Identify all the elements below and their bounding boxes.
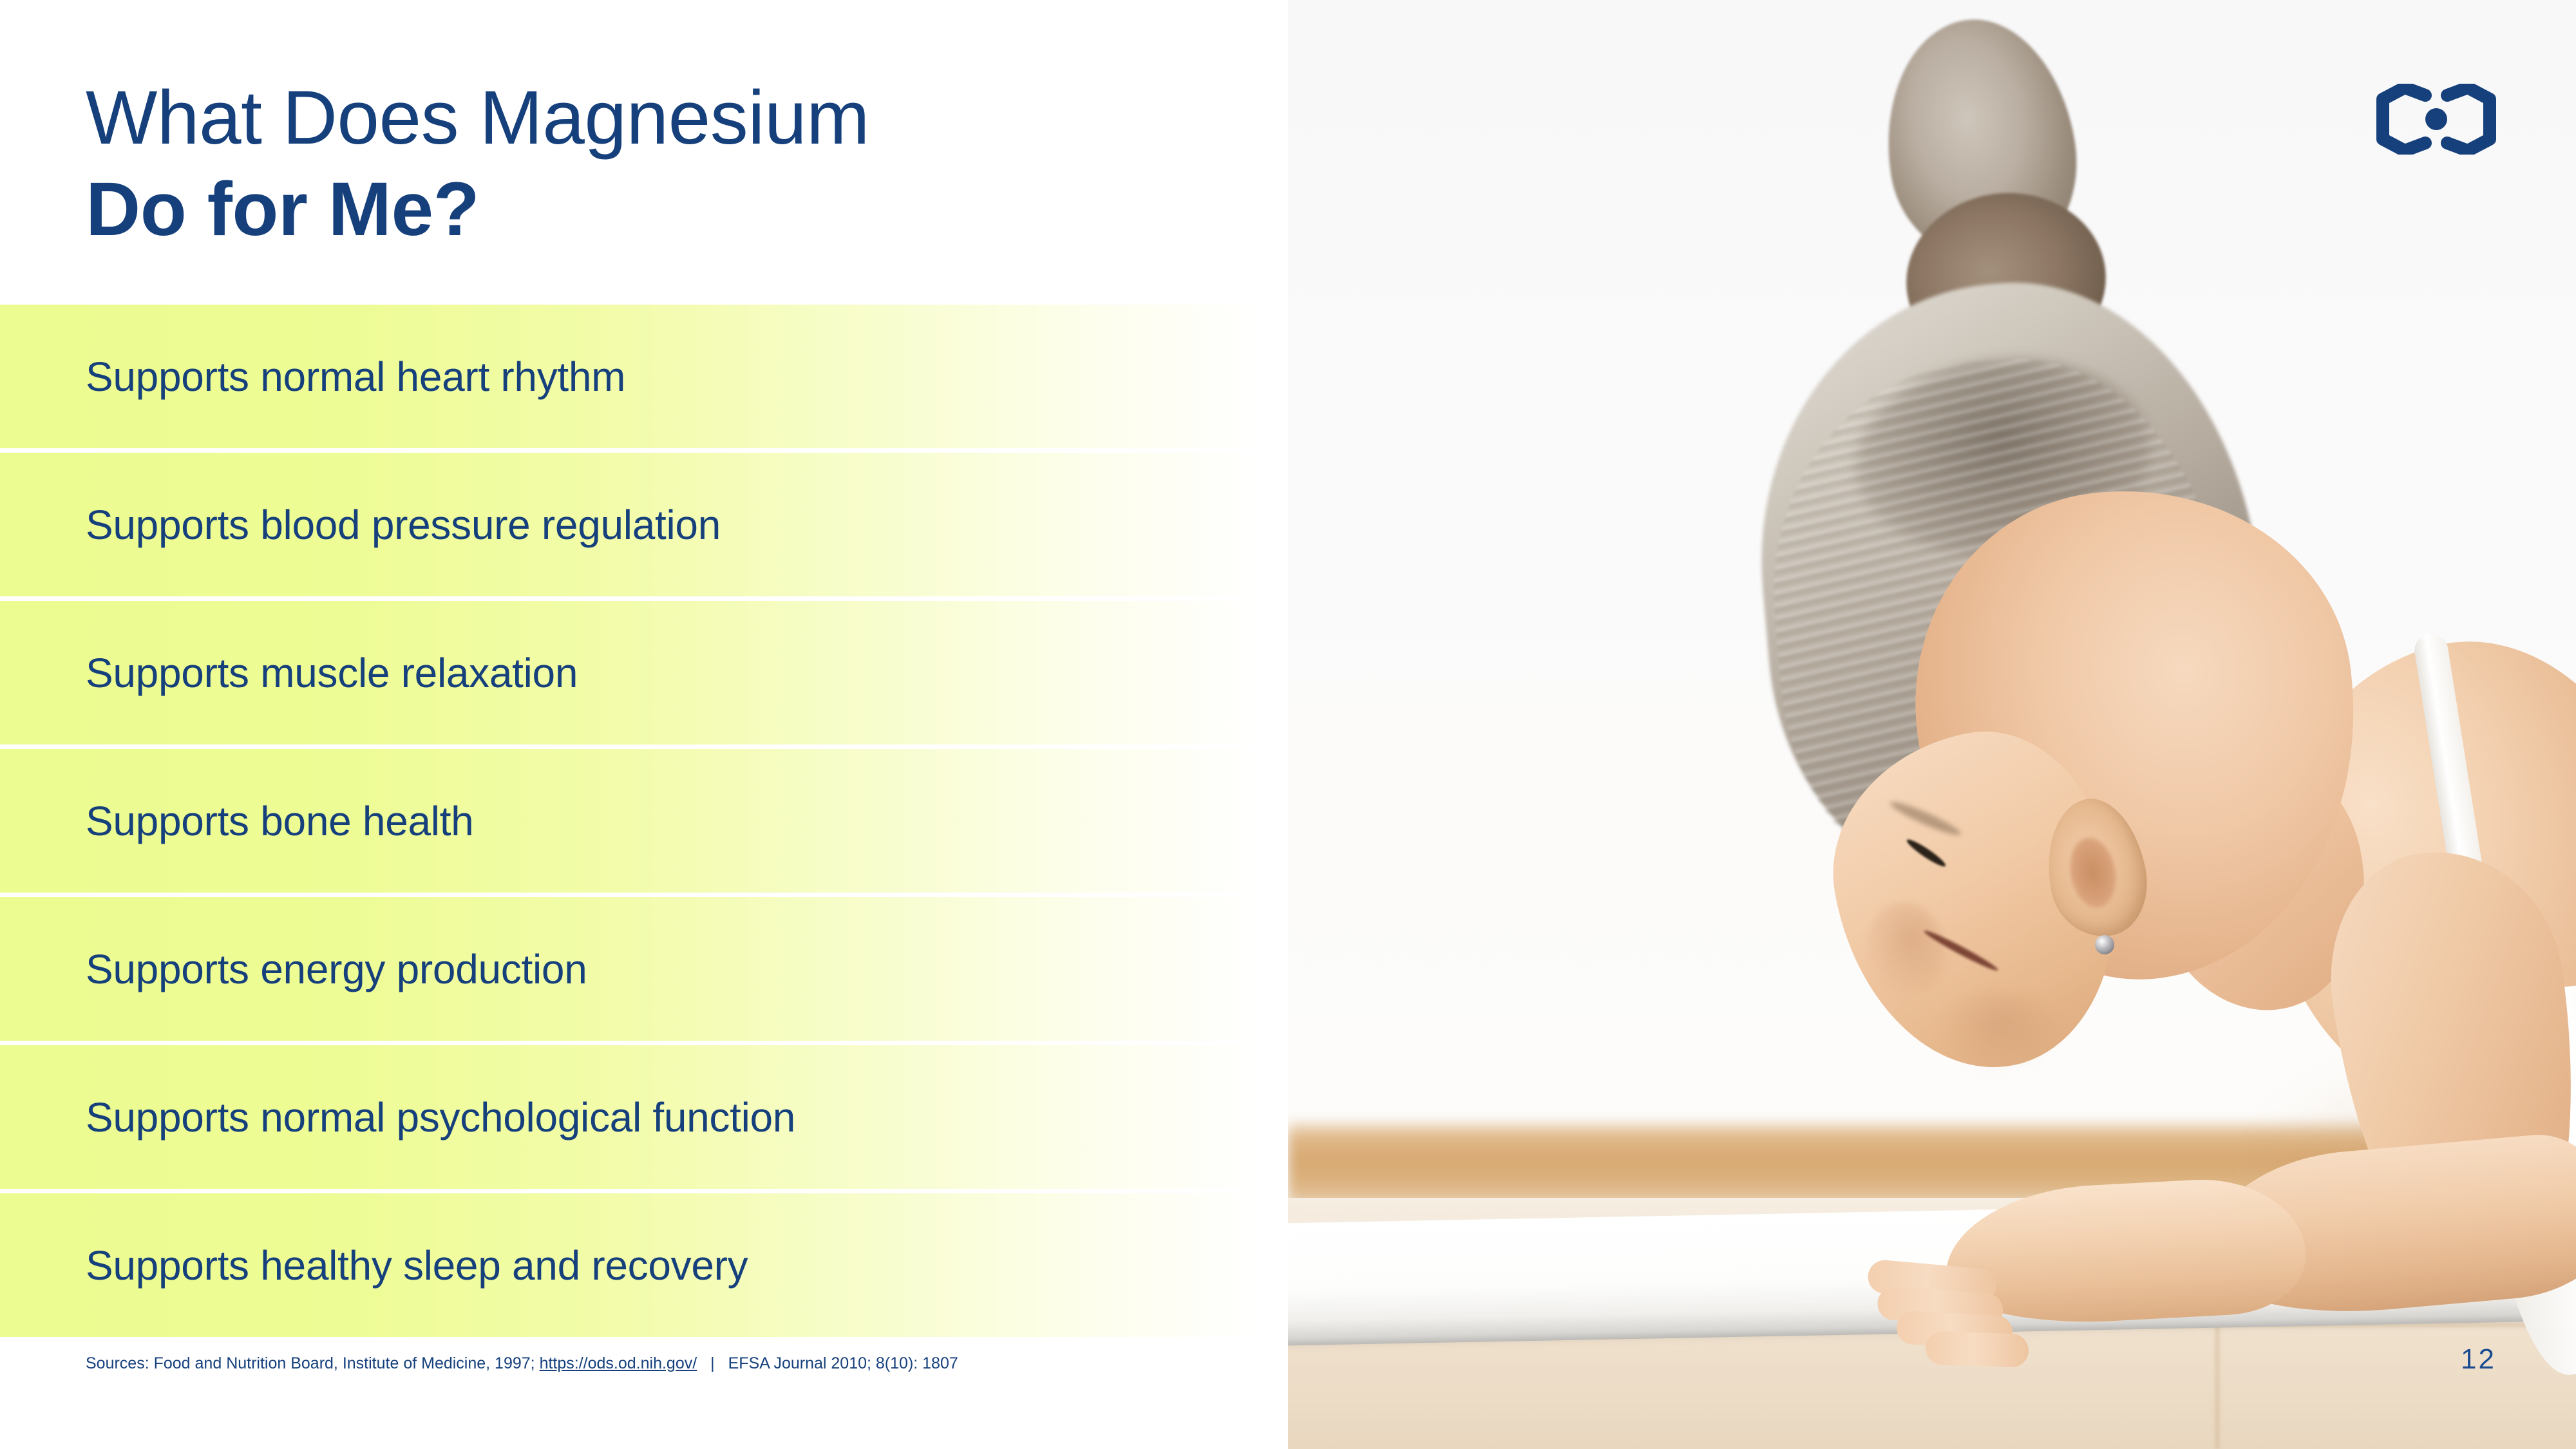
benefit-label: Supports healthy sleep and recovery xyxy=(0,1242,748,1289)
benefit-label: Supports bone health xyxy=(0,798,473,844)
page-number: 12 xyxy=(2461,1343,2496,1376)
benefit-label: Supports energy production xyxy=(0,946,587,992)
benefit-label: Supports normal heart rhythm xyxy=(0,354,625,400)
list-item: Supports muscle relaxation xyxy=(0,601,1288,744)
content-panel: What Does Magnesium Do for Me? Supports … xyxy=(0,0,1288,1449)
sources-separator: | xyxy=(701,1354,724,1372)
benefit-label: Supports blood pressure regulation xyxy=(0,502,721,548)
sources-suffix: EFSA Journal 2010; 8(10): 1807 xyxy=(728,1354,958,1372)
brand-logo xyxy=(2375,84,2497,155)
slide: What Does Magnesium Do for Me? Supports … xyxy=(0,0,2576,1449)
sources-prefix: Sources: Food and Nutrition Board, Insti… xyxy=(86,1354,535,1372)
benefits-list: Supports normal heart rhythm Supports bl… xyxy=(0,305,1288,1341)
photo-chin xyxy=(1938,992,2061,1069)
list-item: Supports energy production xyxy=(0,897,1288,1041)
list-item: Supports normal psychological function xyxy=(0,1045,1288,1189)
sources-note: Sources: Food and Nutrition Board, Insti… xyxy=(86,1352,958,1374)
benefit-label: Supports muscle relaxation xyxy=(0,650,578,696)
list-item: Supports bone health xyxy=(0,749,1288,893)
title-line-1: What Does Magnesium xyxy=(86,72,1213,164)
benefit-label: Supports normal psychological function xyxy=(0,1094,795,1141)
hero-photo: 12 xyxy=(1288,0,2576,1449)
sources-link[interactable]: https://ods.od.nih.gov/ xyxy=(540,1354,697,1372)
list-item: Supports blood pressure regulation xyxy=(0,453,1288,596)
title-line-2: Do for Me? xyxy=(86,164,1213,255)
page-title: What Does Magnesium Do for Me? xyxy=(86,72,1213,255)
photo-earring xyxy=(2095,935,2114,954)
list-item: Supports healthy sleep and recovery xyxy=(0,1193,1288,1337)
photo-finger xyxy=(1925,1331,2029,1368)
list-item: Supports normal heart rhythm xyxy=(0,305,1288,448)
